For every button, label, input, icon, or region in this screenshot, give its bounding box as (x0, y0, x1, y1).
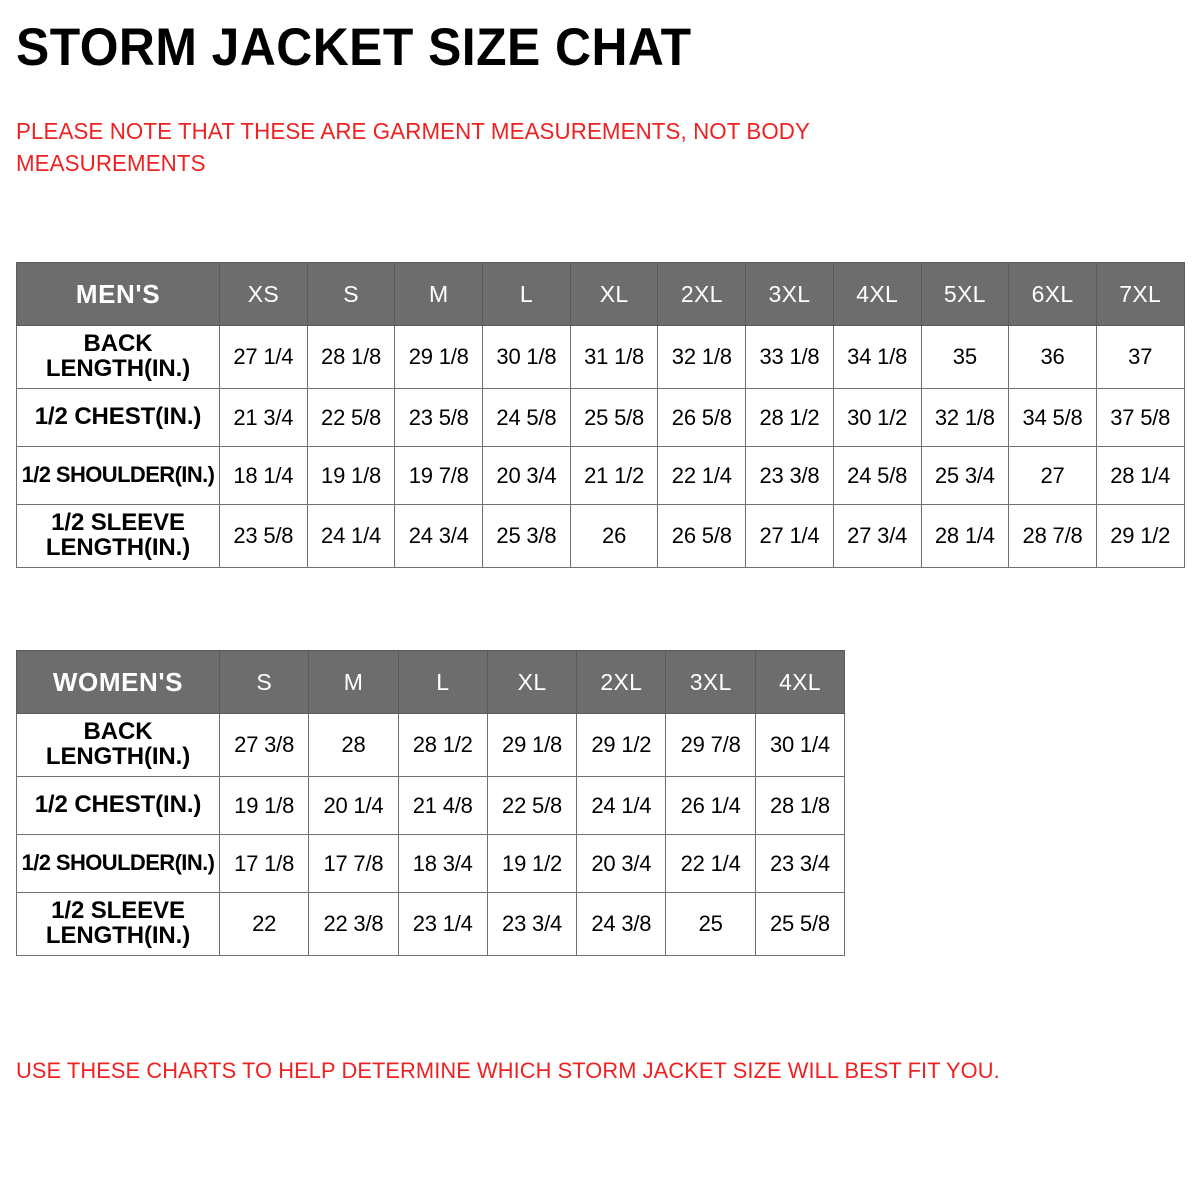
womens-cell-r3-c1: 22 3/8 (309, 893, 398, 956)
table-row: 1/2 SHOULDER(IN.)17 1/817 7/818 3/419 1/… (17, 835, 845, 893)
mens-cell-r2-c7: 24 5/8 (833, 447, 921, 505)
mens-size-table-container: MEN'S XSSMLXL2XL3XL4XL5XL6XL7XL BACK LEN… (16, 262, 1184, 568)
table-row: 1/2 SHOULDER(IN.)18 1/419 1/819 7/820 3/… (17, 447, 1185, 505)
womens-cell-r0-c3: 29 1/8 (487, 714, 576, 777)
mens-cell-r1-c3: 24 5/8 (483, 389, 571, 447)
womens-cell-r1-c3: 22 5/8 (487, 777, 576, 835)
mens-cell-r1-c1: 22 5/8 (307, 389, 395, 447)
mens-cell-r0-c8: 35 (921, 326, 1009, 389)
mens-cell-r2-c1: 19 1/8 (307, 447, 395, 505)
page-title: STORM JACKET SIZE CHAT (16, 20, 692, 76)
mens-cell-r3-c2: 24 3/4 (395, 505, 483, 568)
womens-cell-r0-c4: 29 1/2 (577, 714, 666, 777)
womens-cell-r0-c0: 27 3/8 (220, 714, 309, 777)
mens-size-header-7xl: 7XL (1096, 263, 1184, 326)
mens-cell-r0-c1: 28 1/8 (307, 326, 395, 389)
womens-row-label-1: 1/2 CHEST(IN.) (17, 777, 220, 835)
womens-cell-r0-c5: 29 7/8 (666, 714, 755, 777)
womens-cell-r3-c5: 25 (666, 893, 755, 956)
mens-cell-r2-c10: 28 1/4 (1096, 447, 1184, 505)
womens-cell-r1-c2: 21 4/8 (398, 777, 487, 835)
mens-size-header-xs: XS (220, 263, 308, 326)
womens-cell-r2-c6: 23 3/4 (755, 835, 844, 893)
womens-row-label-2: 1/2 SHOULDER(IN.) (17, 835, 220, 893)
mens-cell-r3-c7: 27 3/4 (833, 505, 921, 568)
mens-cell-r2-c8: 25 3/4 (921, 447, 1009, 505)
mens-row-label-3: 1/2 SLEEVE LENGTH(IN.) (17, 505, 220, 568)
womens-row-label-0: BACK LENGTH(IN.) (17, 714, 220, 777)
womens-cell-r3-c6: 25 5/8 (755, 893, 844, 956)
mens-cell-r0-c6: 33 1/8 (746, 326, 834, 389)
mens-row-label-1: 1/2 CHEST(IN.) (17, 389, 220, 447)
mens-row-label-0: BACK LENGTH(IN.) (17, 326, 220, 389)
use-charts-note: USE THESE CHARTS TO HELP DETERMINE WHICH… (16, 1056, 1141, 1086)
womens-size-table: WOMEN'S SMLXL2XL3XL4XL BACK LENGTH(IN.)2… (16, 650, 845, 956)
womens-size-header-4xl: 4XL (755, 651, 844, 714)
table-row: BACK LENGTH(IN.)27 3/82828 1/229 1/829 1… (17, 714, 845, 777)
mens-cell-r2-c6: 23 3/8 (746, 447, 834, 505)
mens-corner-header: MEN'S (17, 263, 220, 326)
mens-cell-r1-c5: 26 5/8 (658, 389, 746, 447)
mens-cell-r2-c3: 20 3/4 (483, 447, 571, 505)
mens-cell-r1-c4: 25 5/8 (570, 389, 658, 447)
table-row: 1/2 CHEST(IN.)21 3/422 5/823 5/824 5/825… (17, 389, 1185, 447)
womens-table-header-row: WOMEN'S SMLXL2XL3XL4XL (17, 651, 845, 714)
table-row: 1/2 SLEEVE LENGTH(IN.)2222 3/823 1/423 3… (17, 893, 845, 956)
womens-size-header-3xl: 3XL (666, 651, 755, 714)
mens-cell-r3-c10: 29 1/2 (1096, 505, 1184, 568)
mens-cell-r2-c4: 21 1/2 (570, 447, 658, 505)
mens-size-header-l: L (483, 263, 571, 326)
mens-cell-r3-c4: 26 (570, 505, 658, 568)
womens-cell-r3-c0: 22 (220, 893, 309, 956)
womens-cell-r1-c5: 26 1/4 (666, 777, 755, 835)
mens-cell-r0-c0: 27 1/4 (220, 326, 308, 389)
womens-cell-r0-c6: 30 1/4 (755, 714, 844, 777)
mens-size-table: MEN'S XSSMLXL2XL3XL4XL5XL6XL7XL BACK LEN… (16, 262, 1185, 568)
mens-cell-r3-c8: 28 1/4 (921, 505, 1009, 568)
womens-cell-r3-c2: 23 1/4 (398, 893, 487, 956)
mens-size-header-2xl: 2XL (658, 263, 746, 326)
mens-cell-r2-c5: 22 1/4 (658, 447, 746, 505)
womens-row-label-3: 1/2 SLEEVE LENGTH(IN.) (17, 893, 220, 956)
mens-cell-r1-c7: 30 1/2 (833, 389, 921, 447)
mens-size-header-4xl: 4XL (833, 263, 921, 326)
mens-cell-r1-c9: 34 5/8 (1009, 389, 1097, 447)
mens-cell-r1-c0: 21 3/4 (220, 389, 308, 447)
mens-cell-r3-c0: 23 5/8 (220, 505, 308, 568)
mens-cell-r3-c9: 28 7/8 (1009, 505, 1097, 568)
mens-row-label-2: 1/2 SHOULDER(IN.) (17, 447, 220, 505)
womens-size-header-s: S (220, 651, 309, 714)
mens-table-header-row: MEN'S XSSMLXL2XL3XL4XL5XL6XL7XL (17, 263, 1185, 326)
womens-cell-r0-c2: 28 1/2 (398, 714, 487, 777)
womens-cell-r2-c5: 22 1/4 (666, 835, 755, 893)
mens-cell-r1-c2: 23 5/8 (395, 389, 483, 447)
mens-size-header-3xl: 3XL (746, 263, 834, 326)
mens-size-header-xl: XL (570, 263, 658, 326)
womens-cell-r1-c1: 20 1/4 (309, 777, 398, 835)
mens-cell-r0-c10: 37 (1096, 326, 1184, 389)
womens-size-header-xl: XL (487, 651, 576, 714)
mens-cell-r1-c6: 28 1/2 (746, 389, 834, 447)
mens-cell-r2-c0: 18 1/4 (220, 447, 308, 505)
mens-cell-r2-c9: 27 (1009, 447, 1097, 505)
womens-corner-header: WOMEN'S (17, 651, 220, 714)
mens-cell-r3-c1: 24 1/4 (307, 505, 395, 568)
mens-cell-r1-c8: 32 1/8 (921, 389, 1009, 447)
mens-size-header-5xl: 5XL (921, 263, 1009, 326)
mens-cell-r3-c5: 26 5/8 (658, 505, 746, 568)
womens-size-header-l: L (398, 651, 487, 714)
mens-cell-r3-c6: 27 1/4 (746, 505, 834, 568)
mens-cell-r3-c3: 25 3/8 (483, 505, 571, 568)
womens-cell-r1-c6: 28 1/8 (755, 777, 844, 835)
garment-measurement-note: PLEASE NOTE THAT THESE ARE GARMENT MEASU… (16, 116, 947, 179)
womens-size-table-container: WOMEN'S SMLXL2XL3XL4XL BACK LENGTH(IN.)2… (16, 650, 844, 956)
mens-cell-r2-c2: 19 7/8 (395, 447, 483, 505)
mens-cell-r0-c3: 30 1/8 (483, 326, 571, 389)
mens-size-header-m: M (395, 263, 483, 326)
mens-cell-r0-c7: 34 1/8 (833, 326, 921, 389)
womens-cell-r1-c0: 19 1/8 (220, 777, 309, 835)
womens-cell-r0-c1: 28 (309, 714, 398, 777)
womens-cell-r2-c1: 17 7/8 (309, 835, 398, 893)
mens-cell-r0-c9: 36 (1009, 326, 1097, 389)
mens-cell-r0-c4: 31 1/8 (570, 326, 658, 389)
table-row: BACK LENGTH(IN.)27 1/428 1/829 1/830 1/8… (17, 326, 1185, 389)
womens-cell-r2-c0: 17 1/8 (220, 835, 309, 893)
table-row: 1/2 SLEEVE LENGTH(IN.)23 5/824 1/424 3/4… (17, 505, 1185, 568)
womens-cell-r2-c3: 19 1/2 (487, 835, 576, 893)
womens-cell-r3-c4: 24 3/8 (577, 893, 666, 956)
womens-cell-r1-c4: 24 1/4 (577, 777, 666, 835)
mens-size-header-s: S (307, 263, 395, 326)
womens-cell-r2-c4: 20 3/4 (577, 835, 666, 893)
size-chart-page: STORM JACKET SIZE CHAT PLEASE NOTE THAT … (0, 0, 1200, 1200)
mens-cell-r1-c10: 37 5/8 (1096, 389, 1184, 447)
mens-size-header-6xl: 6XL (1009, 263, 1097, 326)
mens-cell-r0-c2: 29 1/8 (395, 326, 483, 389)
mens-cell-r0-c5: 32 1/8 (658, 326, 746, 389)
womens-size-header-2xl: 2XL (577, 651, 666, 714)
womens-cell-r2-c2: 18 3/4 (398, 835, 487, 893)
womens-cell-r3-c3: 23 3/4 (487, 893, 576, 956)
womens-size-header-m: M (309, 651, 398, 714)
table-row: 1/2 CHEST(IN.)19 1/820 1/421 4/822 5/824… (17, 777, 845, 835)
